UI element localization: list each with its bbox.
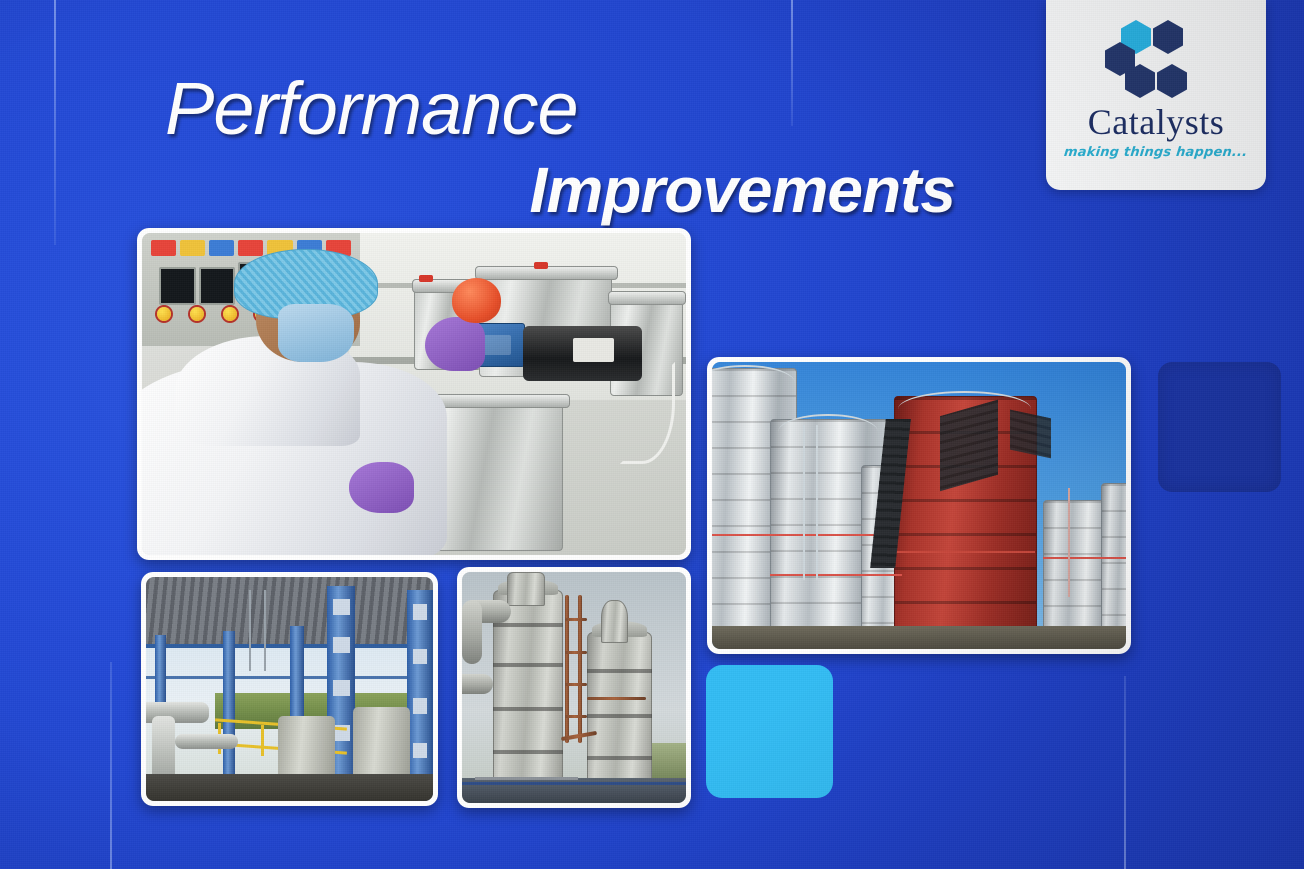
title-line-improvements: Improvements — [165, 158, 955, 222]
brand-tagline: making things happen... — [1064, 145, 1249, 160]
brand-wordmark: Catalysts — [1088, 104, 1225, 140]
hexagon-cluster-c-icon — [1096, 16, 1216, 102]
lab-technician-photo — [137, 228, 691, 560]
accent-block-dark-blue — [1158, 362, 1281, 492]
plant-structure-photo — [141, 572, 438, 806]
guide-line-bottom-right — [1124, 676, 1126, 869]
accent-block-cyan — [706, 665, 833, 798]
presentation-slide: Performance Improvements Catalysts makin… — [0, 0, 1304, 869]
distillation-columns-photo — [457, 567, 691, 808]
storage-tank-farm-photo — [707, 357, 1131, 654]
slide-title: Performance Improvements — [165, 72, 955, 222]
brand-logo-card: Catalysts making things happen... — [1046, 0, 1266, 190]
title-line-performance: Performance — [165, 72, 955, 146]
guide-line-top-left — [54, 0, 56, 245]
guide-line-bottom-left — [110, 662, 112, 869]
